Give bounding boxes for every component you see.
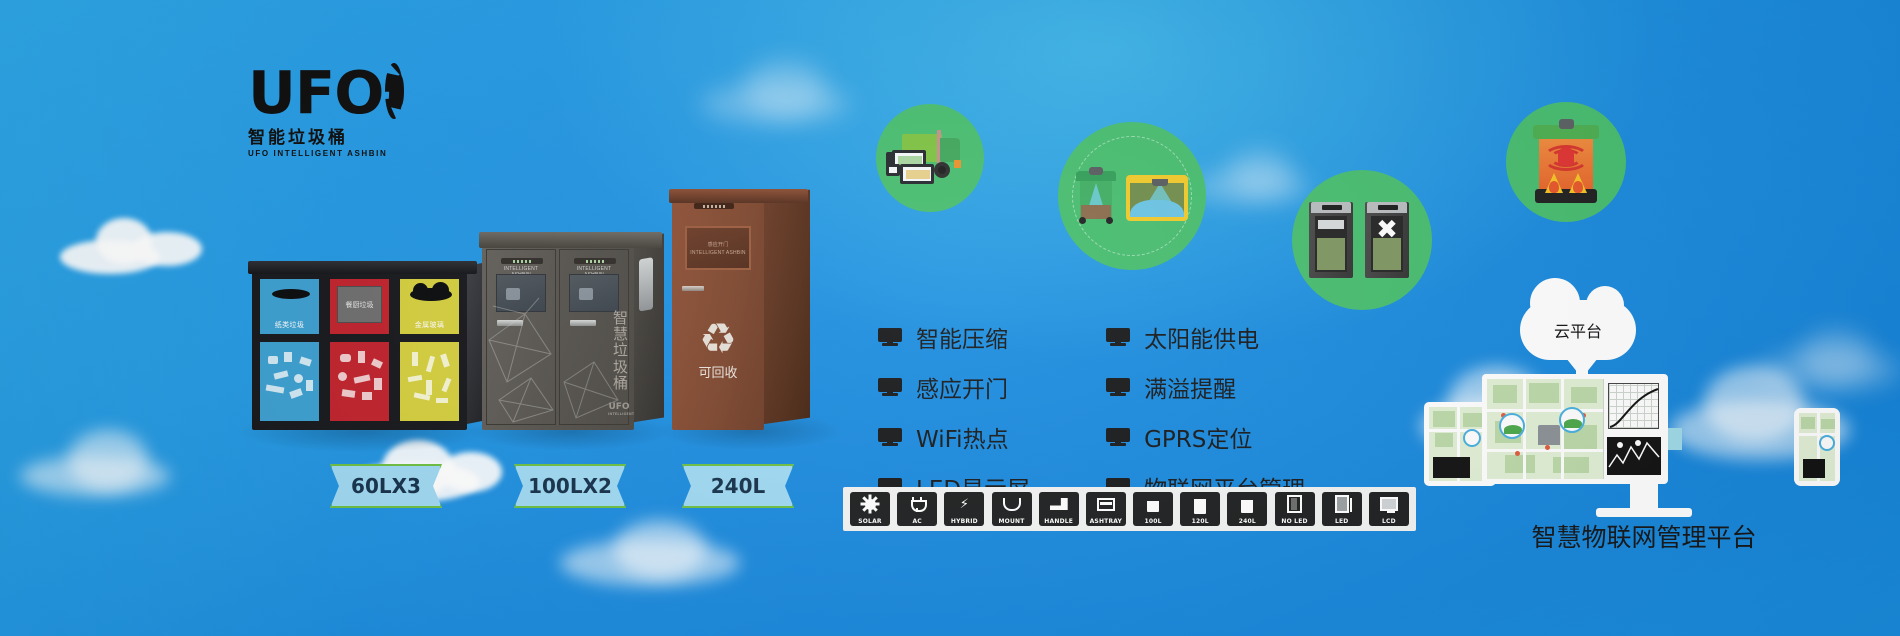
banner-stage: UFO 智能垃圾桶 UFO INTELLIGENT ASHBIN 纸类垃圾 [0, 0, 1900, 636]
vignette-overlay [0, 0, 1900, 636]
cloud-platform-label: 云平台 [1554, 318, 1602, 342]
